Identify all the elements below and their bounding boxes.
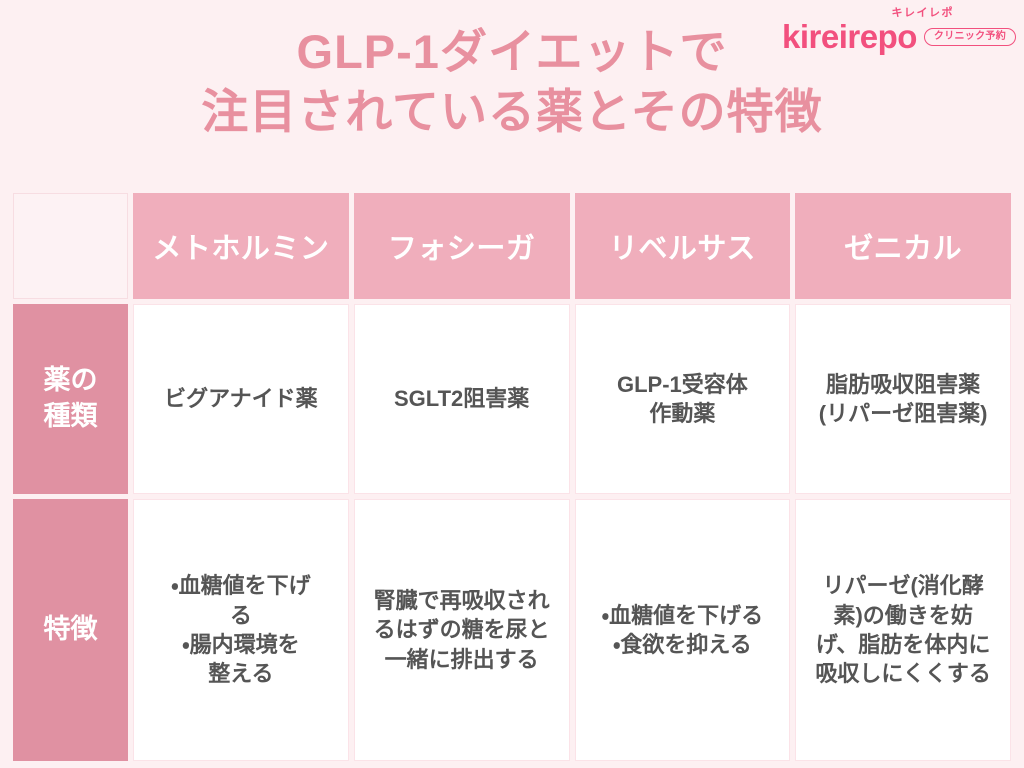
cell-drug-type-rybelsus-text: GLP-1受容体 作動薬 xyxy=(580,370,786,429)
row-label-drug-type: 薬の 種類 xyxy=(13,304,128,494)
cell-features-xenical: リパーゼ(消化酵 素)の働きを妨 げ、脂肪を体内に 吸収しにくくする xyxy=(795,499,1011,761)
cell-features-forxiga: 腎臓で再吸収され るはずの糖を尿と 一緒に排出する xyxy=(354,499,570,761)
page-title-line-1: GLP-1ダイエットで xyxy=(0,22,1024,82)
table-corner-cell xyxy=(13,193,128,299)
cell-drug-type-forxiga-text: SGLT2阻害薬 xyxy=(359,384,565,413)
cell-drug-type-rybelsus: GLP-1受容体 作動薬 xyxy=(575,304,791,494)
table-header-row: メトホルミン フォシーガ リベルサス ゼニカル xyxy=(13,193,1011,299)
column-header-forxiga: フォシーガ xyxy=(354,193,570,299)
cell-features-metformin: ・血糖値を下げ る ・腸内環境を 整える xyxy=(133,499,349,761)
drug-comparison-table: メトホルミン フォシーガ リベルサス ゼニカル 薬の 種類 ビグアナイド薬 SG… xyxy=(8,188,1016,766)
cell-drug-type-xenical: 脂肪吸収阻害薬 (リパーゼ阻害薬) xyxy=(795,304,1011,494)
cell-features-rybelsus: ・血糖値を下げる ・食欲を抑える xyxy=(575,499,791,761)
row-label-drug-type-text: 薬の 種類 xyxy=(44,365,98,431)
cell-drug-type-metformin: ビグアナイド薬 xyxy=(133,304,349,494)
page-title-line-2: 注目されている薬とその特徴 xyxy=(0,82,1024,142)
comparison-table-container: メトホルミン フォシーガ リベルサス ゼニカル 薬の 種類 ビグアナイド薬 SG… xyxy=(8,188,1016,756)
cell-drug-type-xenical-text: 脂肪吸収阻害薬 (リパーゼ阻害薬) xyxy=(800,370,1006,429)
table-row: 薬の 種類 ビグアナイド薬 SGLT2阻害薬 GLP-1受容体 作動薬 脂肪吸収… xyxy=(13,304,1011,494)
row-label-features: 特徴 xyxy=(13,499,128,761)
cell-drug-type-metformin-text: ビグアナイド薬 xyxy=(138,384,344,413)
column-header-rybelsus: リベルサス xyxy=(575,193,791,299)
cell-features-metformin-text: ・血糖値を下げ る ・腸内環境を 整える xyxy=(138,571,344,689)
table-row: 特徴 ・血糖値を下げ る ・腸内環境を 整える 腎臓で再吸収され るはずの糖を尿… xyxy=(13,499,1011,761)
page-title: GLP-1ダイエットで 注目されている薬とその特徴 xyxy=(0,22,1024,142)
cell-drug-type-forxiga: SGLT2阻害薬 xyxy=(354,304,570,494)
cell-features-xenical-text: リパーゼ(消化酵 素)の働きを妨 げ、脂肪を体内に 吸収しにくくする xyxy=(800,571,1006,689)
cell-features-rybelsus-text: ・血糖値を下げる ・食欲を抑える xyxy=(580,601,786,660)
row-label-features-text: 特徴 xyxy=(44,614,98,644)
column-header-metformin: メトホルミン xyxy=(133,193,349,299)
column-header-xenical: ゼニカル xyxy=(795,193,1011,299)
cell-features-forxiga-text: 腎臓で再吸収され るはずの糖を尿と 一緒に排出する xyxy=(359,586,565,674)
